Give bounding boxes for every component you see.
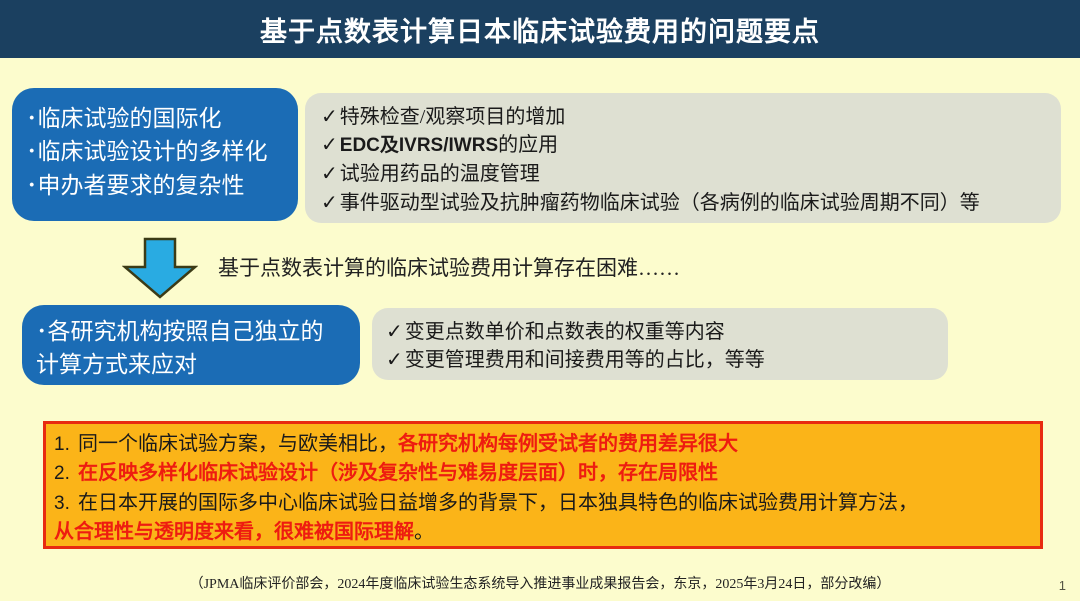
issues-item-2: ･申办者要求的复杂性 bbox=[26, 169, 298, 202]
response-detail-row-1: ✓变更管理费用和间接费用等的占比，等等 bbox=[386, 346, 948, 374]
check-icon: ✓ bbox=[386, 346, 403, 374]
issues-item-0: ･临床试验的国际化 bbox=[26, 102, 298, 135]
conclusion-number-1: 2. bbox=[54, 460, 78, 488]
conclusion-seg-3-0: 从合理性与透明度来看，很难被国际理解 bbox=[54, 521, 414, 543]
page-number: 1 bbox=[1059, 578, 1066, 593]
issue-detail-row-0: ✓特殊检查/观察项目的增加 bbox=[321, 103, 1061, 131]
conclusion-seg-0-1: 各研究机构每例受试者的费用差异很大 bbox=[398, 433, 738, 455]
conclusion-row-2: 3.在日本开展的国际多中心临床试验日益增多的背景下，日本独具特色的临床试验费用计… bbox=[54, 489, 1040, 518]
conclusion-box: 1.同一个临床试验方案，与欧美相比，各研究机构每例受试者的费用差异很大 2.在反… bbox=[43, 421, 1043, 549]
conclusion-row-1: 2.在反映多样化临床试验设计（涉及复杂性与难易度层面）时，存在局限性 bbox=[54, 459, 1040, 488]
issue-detail-row-1: ✓EDC及IVRS/IWRS的应用 bbox=[321, 131, 1061, 160]
conclusion-seg-0-0: 同一个临床试验方案，与欧美相比， bbox=[78, 433, 398, 455]
conclusion-seg-1-0: 在反映多样化临床试验设计（涉及复杂性与难易度层面）时，存在局限性 bbox=[78, 462, 718, 484]
issues-box: ･临床试验的国际化 ･临床试验设计的多样化 ･申办者要求的复杂性 bbox=[12, 88, 298, 221]
issues-details-box: ✓特殊检查/观察项目的增加 ✓EDC及IVRS/IWRS的应用 ✓试验用药品的温… bbox=[305, 93, 1061, 223]
conclusion-seg-3-1: 。 bbox=[414, 521, 434, 543]
page-title: 基于点数表计算日本临床试验费用的问题要点 bbox=[260, 10, 820, 49]
issue-detail-text-0: 特殊检查/观察项目的增加 bbox=[340, 106, 566, 128]
issue-detail-text-2: 试验用药品的温度管理 bbox=[340, 163, 540, 185]
response-detail-row-0: ✓变更点数单价和点数表的权重等内容 bbox=[386, 318, 948, 346]
response-line-2: 计算方式来应对 bbox=[36, 348, 360, 381]
check-icon: ✓ bbox=[321, 189, 338, 217]
issue-detail-text-3: 事件驱动型试验及抗肿瘤药物临床试验（各病例的临床试验周期不同）等 bbox=[340, 192, 980, 214]
issue-detail-text-1: 的应用 bbox=[498, 134, 558, 156]
issue-detail-row-3: ✓事件驱动型试验及抗肿瘤药物临床试验（各病例的临床试验周期不同）等 bbox=[321, 189, 1061, 217]
response-details-box: ✓变更点数单价和点数表的权重等内容 ✓变更管理费用和间接费用等的占比，等等 bbox=[372, 308, 948, 380]
conclusion-row-3: 从合理性与透明度来看，很难被国际理解。 bbox=[54, 518, 1040, 547]
response-detail-text-1: 变更管理费用和间接费用等的占比，等等 bbox=[405, 349, 765, 371]
conclusion-number-2: 3. bbox=[54, 490, 78, 518]
conclusion-number-0: 1. bbox=[54, 431, 78, 459]
response-box: ･各研究机构按照自己独立的 计算方式来应对 bbox=[22, 305, 360, 385]
check-icon: ✓ bbox=[386, 318, 403, 346]
conclusion-row-0: 1.同一个临床试验方案，与欧美相比，各研究机构每例受试者的费用差异很大 bbox=[54, 430, 1040, 459]
response-detail-text-0: 变更点数单价和点数表的权重等内容 bbox=[405, 321, 725, 343]
down-arrow-icon bbox=[122, 237, 198, 299]
response-line-1: ･各研究机构按照自己独立的 bbox=[36, 315, 360, 348]
transition-statement: 基于点数表计算的临床试验费用计算存在困难…… bbox=[218, 252, 680, 282]
footer-source: （JPMA临床评价部会，2024年度临床试验生态系统导入推进事业成果报告会，东京… bbox=[0, 573, 1080, 593]
issue-detail-row-2: ✓试验用药品的温度管理 bbox=[321, 160, 1061, 188]
issues-item-1: ･临床试验设计的多样化 bbox=[26, 135, 298, 168]
check-icon: ✓ bbox=[321, 131, 338, 159]
issue-detail-bold-1: EDC及IVRS/IWRS bbox=[340, 135, 498, 156]
check-icon: ✓ bbox=[321, 103, 338, 131]
conclusion-seg-2-0: 在日本开展的国际多中心临床试验日益增多的背景下，日本独具特色的临床试验费用计算方… bbox=[78, 492, 918, 514]
slide-title-bar: 基于点数表计算日本临床试验费用的问题要点 bbox=[0, 0, 1080, 58]
check-icon: ✓ bbox=[321, 160, 338, 188]
